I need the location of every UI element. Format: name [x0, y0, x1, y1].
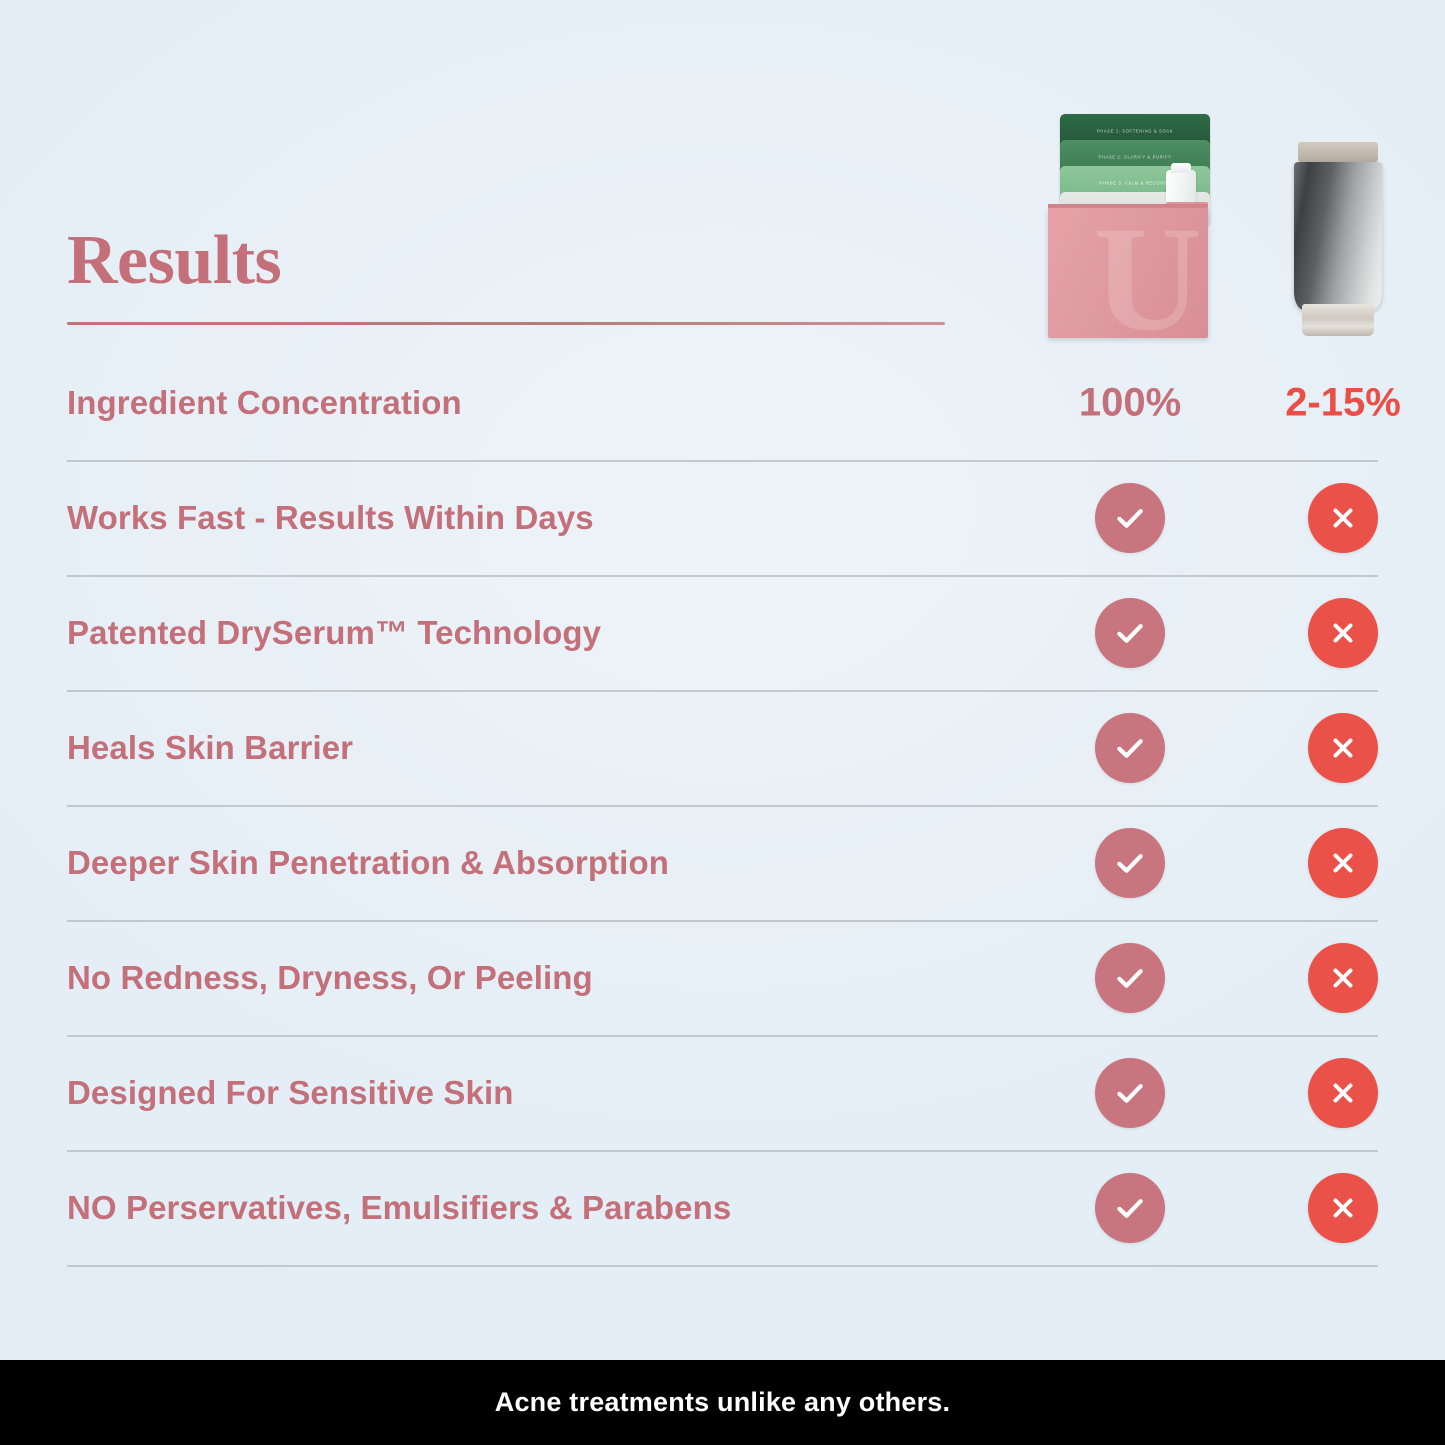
check-icon [1095, 828, 1165, 898]
check-icon [1095, 483, 1165, 553]
check-icon [1095, 1173, 1165, 1243]
table-row: Patented DrySerum™ Technology [0, 575, 1445, 690]
u-watermark: U [1094, 208, 1202, 338]
footer-tagline: Acne treatments unlike any others. [495, 1387, 950, 1418]
row-label: Heals Skin Barrier [67, 729, 353, 767]
comparison-graphic: PHASE 1: SOFTENING & SOAK PHASE 2: CLARI… [0, 0, 1445, 1445]
cross-icon [1308, 1173, 1378, 1243]
check-icon [1095, 713, 1165, 783]
table-row: Heals Skin Barrier [0, 690, 1445, 805]
row-label: Deeper Skin Penetration & Absorption [67, 844, 669, 882]
footer-banner: Acne treatments unlike any others. [0, 1360, 1445, 1445]
row-label: Patented DrySerum™ Technology [67, 614, 601, 652]
cross-icon [1308, 713, 1378, 783]
cross-icon [1308, 1058, 1378, 1128]
sachet-1-label: PHASE 1: SOFTENING & SOAK [1060, 129, 1210, 134]
tube-body [1294, 162, 1382, 310]
page-title: Results [67, 226, 281, 296]
cross-icon [1308, 943, 1378, 1013]
row-label: No Redness, Dryness, Or Peeling [67, 959, 593, 997]
table-row: No Redness, Dryness, Or Peeling [0, 920, 1445, 1035]
unraw-value: 100% [1079, 380, 1181, 425]
competitor-tube-image [1292, 142, 1384, 338]
check-icon [1095, 598, 1165, 668]
table-row: Works Fast - Results Within Days [0, 460, 1445, 575]
check-icon [1095, 943, 1165, 1013]
cross-icon [1308, 828, 1378, 898]
tube-crimp [1298, 142, 1378, 162]
table-row: Deeper Skin Penetration & Absorption [0, 805, 1445, 920]
table-row: Ingredient Concentration100%2-15% [0, 345, 1445, 460]
row-label: NO Perservatives, Emulsifiers & Parabens [67, 1189, 731, 1227]
competitor-value: 2-15% [1285, 380, 1401, 425]
row-label: Designed For Sensitive Skin [67, 1074, 514, 1112]
check-icon [1095, 1058, 1165, 1128]
table-row: Designed For Sensitive Skin [0, 1035, 1445, 1150]
sachet-2-label: PHASE 2: CLARIFY & PURIFY [1060, 155, 1210, 160]
tube-cap [1302, 304, 1374, 336]
table-row: NO Perservatives, Emulsifiers & Parabens [0, 1150, 1445, 1265]
cross-icon [1308, 598, 1378, 668]
title-underline [67, 322, 945, 325]
row-label: Works Fast - Results Within Days [67, 499, 594, 537]
row-label: Ingredient Concentration [67, 384, 462, 422]
unraw-kit-image: PHASE 1: SOFTENING & SOAK PHASE 2: CLARI… [1048, 110, 1228, 338]
row-divider [67, 1265, 1378, 1267]
brand-name: UNRAW [1048, 237, 1050, 332]
cross-icon [1308, 483, 1378, 553]
box-front-panel: U UNRAW [1048, 208, 1208, 338]
product-images: PHASE 1: SOFTENING & SOAK PHASE 2: CLARI… [1030, 100, 1430, 350]
